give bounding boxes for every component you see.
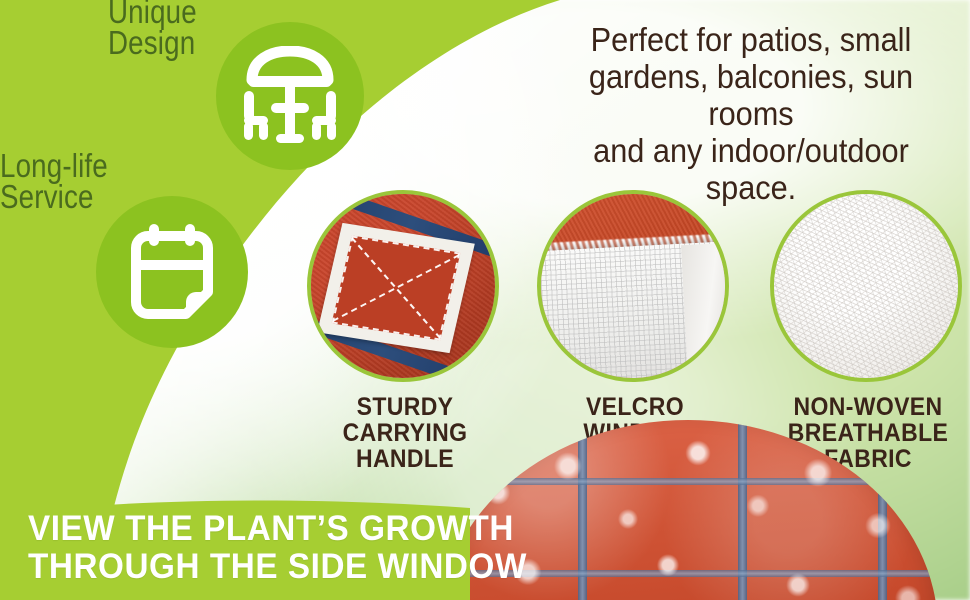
infographic-canvas: Unique Design Long-life Se — [0, 0, 970, 600]
white-fiber-texture — [774, 194, 958, 378]
patio-umbrella-icon — [238, 46, 342, 146]
patio-umbrella-badge — [216, 22, 364, 170]
stitch-box — [332, 235, 461, 340]
long-life-service-label: Long-life Service — [0, 150, 108, 213]
calendar-icon — [122, 222, 222, 322]
velcro-folded-edge — [681, 243, 729, 382]
banner-headline: VIEW THE PLANT’S GROWTH THROUGH THE SIDE… — [28, 510, 527, 586]
red-fabric-texture — [311, 194, 495, 378]
lead-paragraph: Perfect for patios, small gardens, balco… — [559, 22, 942, 207]
sturdy-carrying-handle-photo — [307, 190, 499, 382]
unique-design-label: Unique Design — [108, 0, 197, 59]
long-life-service-badge — [96, 196, 248, 348]
red-fabric-texture — [541, 194, 725, 378]
stitch-cross-line — [332, 254, 459, 322]
white-handle-strap — [317, 223, 475, 353]
velcro-window-closure-photo — [537, 190, 729, 382]
non-woven-fabric-photo — [770, 190, 962, 382]
